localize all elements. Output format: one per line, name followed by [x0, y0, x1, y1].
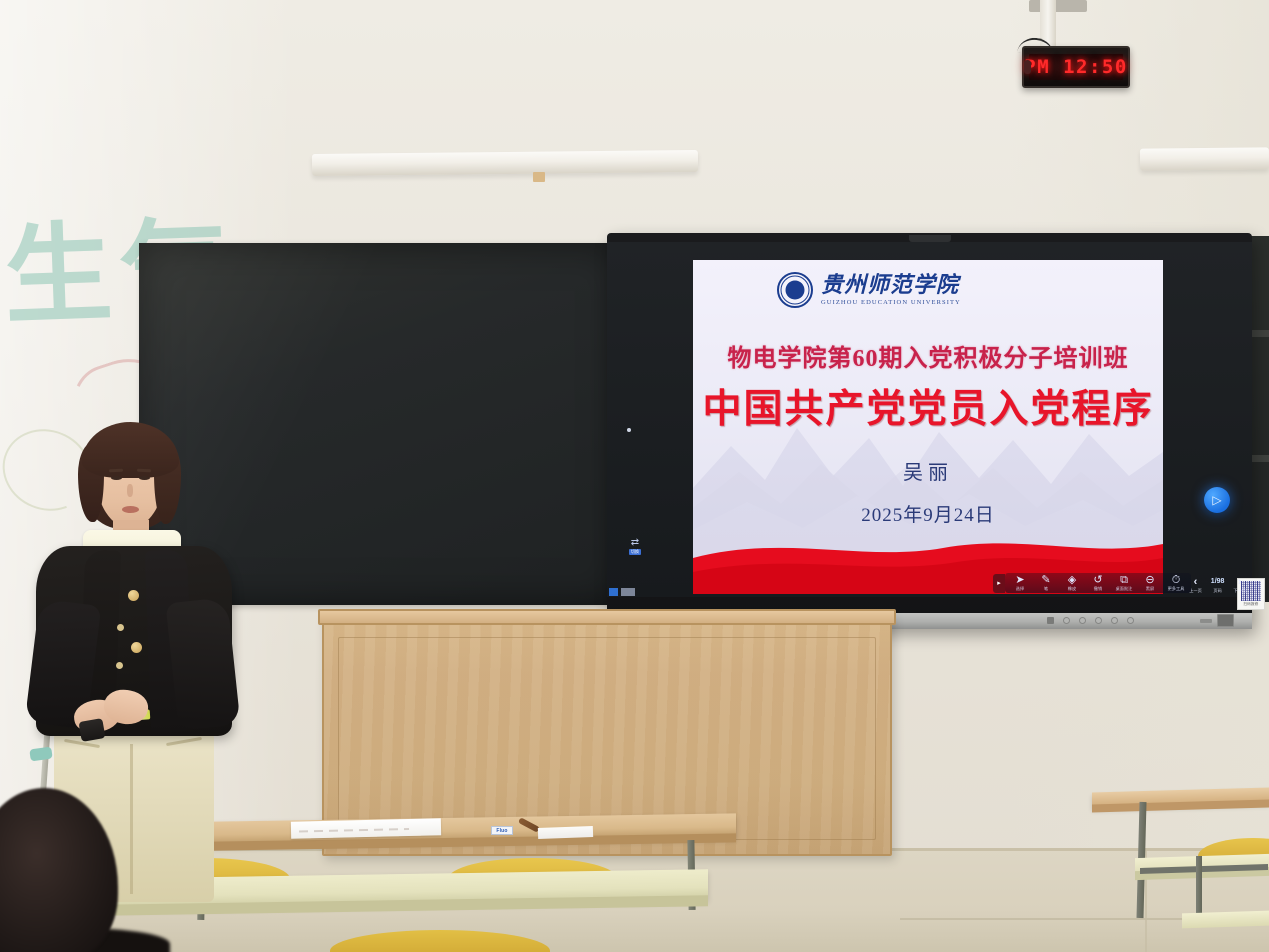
toolbar-tool-pen-label: 笔	[1044, 586, 1048, 592]
slide-speaker-name: 吴丽	[693, 456, 1163, 485]
slide-title: 中国共产党党员入党程序	[693, 390, 1163, 431]
toolbar-tool-undo-label: 撤销	[1094, 586, 1102, 592]
panel-edge-dot	[627, 428, 631, 432]
led-clock-screen: PM 12:50	[1029, 54, 1123, 80]
presenter-trouser-seam	[130, 744, 133, 894]
bench-leg-right	[1196, 856, 1202, 918]
presentation-slide[interactable]: 贵州师范学院 GUIZHOU EDUCATION UNIVERSITY 物电学院…	[693, 260, 1163, 594]
volume-down-button-icon[interactable]	[1095, 617, 1102, 624]
desk-label-text: Fluo	[496, 828, 507, 834]
floating-assistant-button[interactable]: ▷	[1204, 487, 1230, 513]
prev-page-button[interactable]: ‹ 上一页	[1189, 576, 1202, 594]
chevron-left-icon: ‹	[1194, 576, 1198, 588]
presenter-hair-front	[82, 422, 179, 478]
classroom-scene: 生气 PM 12:50 ⇄ 切换	[0, 0, 1269, 952]
source-button-icon[interactable]	[1127, 617, 1134, 624]
chevron-right-icon: ›	[1238, 576, 1242, 588]
university-logo: 贵州师范学院 GUIZHOU EDUCATION UNIVERSITY	[777, 272, 961, 308]
page-indicator: 1/98 页码	[1211, 576, 1225, 594]
page-indicator-value: 1/98	[1211, 576, 1225, 588]
qr-code-label: 扫码报修	[1243, 602, 1258, 607]
toolbar-tool-pen[interactable]: ✎ 笔	[1033, 574, 1059, 592]
toolbar-tool-blackscreen-label: 黑屏	[1146, 586, 1154, 592]
swap-icon: ⇄	[631, 537, 639, 548]
university-name-en: GUIZHOU EDUCATION UNIVERSITY	[821, 299, 961, 306]
panel-camera-notch	[909, 235, 951, 242]
curtain-rail-tab	[533, 172, 545, 182]
toolbar-tool-annotate[interactable]: ⧉ 桌面批注	[1111, 574, 1137, 592]
minus-circle-icon: ⊖	[1145, 574, 1154, 586]
led-clock: PM 12:50	[1022, 46, 1130, 88]
slide-navigation[interactable]: ‹ 上一页 1/98 页码 › 下一页	[1189, 572, 1246, 594]
timer-icon: ⏱	[1172, 574, 1181, 586]
annotation-toolbar[interactable]: ▸ ➤ 选择 ✎ 笔 ◈ 橡皮 ↺	[993, 572, 1191, 594]
toolbar-tool-blackscreen[interactable]: ⊖ 黑屏	[1137, 574, 1163, 592]
presenter-eye-left	[111, 476, 122, 480]
interactive-display-panel[interactable]: ⇄ 切换	[607, 233, 1252, 629]
desk-label-tag: Fluo	[491, 826, 513, 835]
lectern-top-surface	[318, 609, 896, 625]
page-indicator-label: 页码	[1213, 588, 1221, 594]
swap-icon-label: 切换	[629, 549, 641, 555]
presenter-jacket-button-bottom	[131, 642, 142, 653]
paper-sheet-small	[538, 826, 593, 839]
panel-switch-source-icon[interactable]: ⇄ 切换	[629, 537, 641, 555]
next-page-button[interactable]: › 下一页	[1233, 576, 1246, 594]
volume-up-button-icon[interactable]	[1111, 617, 1118, 624]
toolbar-tool-undo[interactable]: ↺ 撤销	[1085, 574, 1111, 592]
panel-screen-background: ⇄ 切换	[607, 242, 1252, 597]
slide-subtitle: 物电学院第60期入党积极分子培训班	[693, 338, 1163, 373]
prev-page-label: 上一页	[1189, 588, 1202, 594]
university-emblem-icon	[777, 272, 813, 308]
power-button-icon[interactable]	[1047, 617, 1054, 624]
taskbar-app-icon[interactable]	[609, 588, 618, 596]
panel-hdmi-port	[1217, 614, 1234, 627]
assistant-icon: ▷	[1212, 493, 1221, 507]
led-clock-time: PM 12:50	[1024, 56, 1128, 78]
clock-ceiling-bracket	[1029, 0, 1087, 12]
lectern-panel-outline	[338, 637, 876, 840]
slide-date: 2025年9月24日	[693, 500, 1163, 527]
curtain-rail-left	[312, 150, 698, 176]
toolbar-tool-more[interactable]: ⏱ 更多工具	[1163, 574, 1189, 592]
panel-taskbar[interactable]	[609, 588, 635, 596]
toolbar-tool-eraser[interactable]: ◈ 橡皮	[1059, 574, 1085, 592]
toolbar-tool-annotate-label: 桌面批注	[1116, 586, 1133, 592]
student-bench-right-front	[1182, 911, 1269, 929]
toolbar-tool-group[interactable]: ➤ 选择 ✎ 笔 ◈ 橡皮 ↺ 撤销	[1005, 573, 1191, 593]
panel-hardware-buttons[interactable]	[1047, 617, 1134, 624]
panel-usb-port	[1200, 619, 1212, 623]
taskbar-window-icon[interactable]	[621, 588, 635, 596]
university-name-cn: 贵州师范学院	[821, 274, 961, 296]
presenter-nose	[127, 484, 133, 497]
paper-sheet-large	[291, 818, 441, 838]
eraser-icon: ◈	[1068, 574, 1076, 586]
home-button-icon[interactable]	[1063, 617, 1070, 624]
presenter-eye-right	[139, 476, 150, 480]
presentation-clicker	[78, 718, 105, 742]
clock-side-knob	[1024, 60, 1031, 74]
curtain-rail-right	[1140, 147, 1269, 170]
menu-button-icon[interactable]	[1079, 617, 1086, 624]
toolbar-tool-select[interactable]: ➤ 选择	[1007, 574, 1033, 592]
toolbar-tool-eraser-label: 橡皮	[1068, 586, 1076, 592]
presenter-jacket-button-top	[128, 590, 139, 601]
presenter-shirt-button-lower	[116, 662, 123, 669]
next-page-label: 下一页	[1233, 588, 1246, 594]
screenshot-icon: ⧉	[1120, 574, 1128, 586]
toolbar-tool-more-label: 更多工具	[1168, 586, 1185, 592]
presenter-mouth	[122, 506, 139, 513]
undo-icon: ↺	[1093, 574, 1102, 586]
cursor-icon: ➤	[1015, 574, 1024, 586]
pen-icon: ✎	[1041, 574, 1050, 586]
toolbar-collapse-handle[interactable]: ▸	[993, 574, 1005, 593]
presenter-shirt-button-upper	[117, 624, 124, 631]
toolbar-tool-select-label: 选择	[1016, 586, 1024, 592]
